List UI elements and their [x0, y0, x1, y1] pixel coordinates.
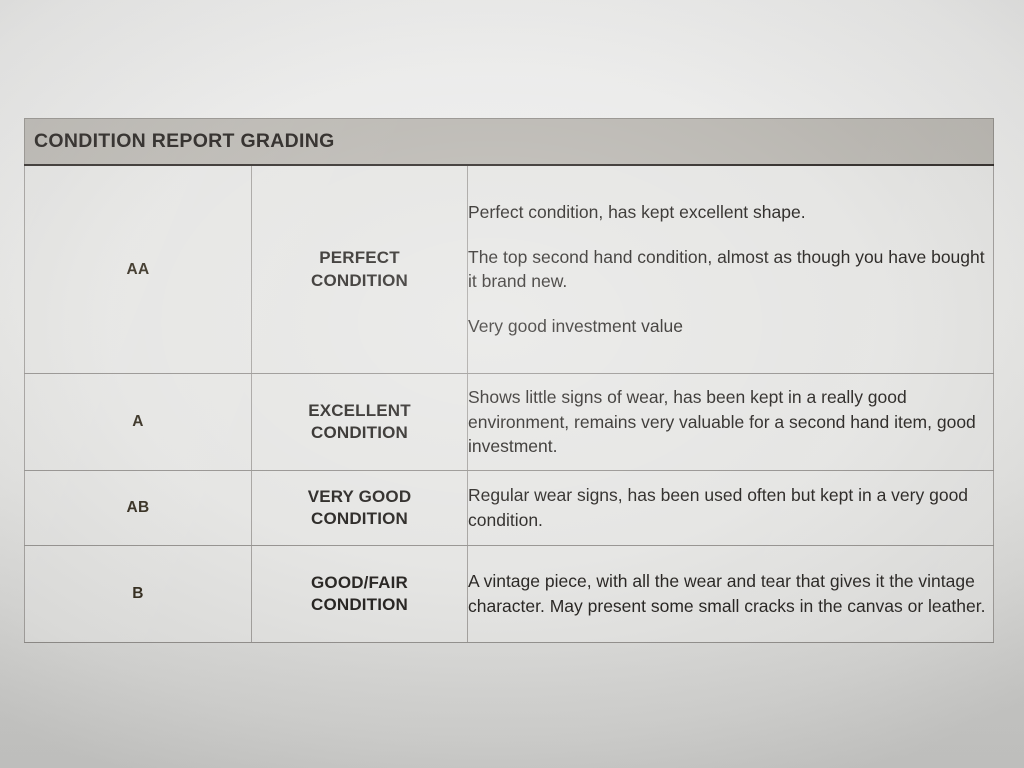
- condition-name-line-1: PERFECT: [319, 248, 400, 267]
- grade-cell-aa: AA: [25, 165, 252, 374]
- description-paragraph: Regular wear signs, has been used often …: [468, 483, 993, 533]
- description-paragraph: Perfect condition, has kept excellent sh…: [468, 201, 993, 224]
- table-header-cell: CONDITION REPORT GRADING: [25, 119, 994, 166]
- condition-report-grading-table: CONDITION REPORT GRADING AA PERFECT COND…: [24, 118, 994, 643]
- table-row: B GOOD/FAIR CONDITION A vintage piece, w…: [25, 546, 994, 643]
- description-cell-b: A vintage piece, with all the wear and t…: [468, 546, 994, 643]
- condition-name-cell-a: EXCELLENT CONDITION: [252, 374, 468, 471]
- description-paragraph: Very good investment value: [468, 315, 993, 338]
- description-cell-ab: Regular wear signs, has been used often …: [468, 471, 994, 546]
- description-paragraph: The top second hand condition, almost as…: [468, 246, 993, 293]
- table-row: AB VERY GOOD CONDITION Regular wear sign…: [25, 471, 994, 546]
- grade-label: B: [132, 585, 144, 602]
- table-row: A EXCELLENT CONDITION Shows little signs…: [25, 374, 994, 471]
- page-title: CONDITION REPORT GRADING: [25, 132, 993, 152]
- condition-name-line-1: GOOD/FAIR: [311, 573, 408, 592]
- grade-cell-b: B: [25, 546, 252, 643]
- table-row: AA PERFECT CONDITION Perfect condition, …: [25, 165, 994, 374]
- condition-name-label: GOOD/FAIR CONDITION: [252, 572, 467, 617]
- condition-name-line-2: CONDITION: [311, 595, 408, 614]
- condition-name-cell-ab: VERY GOOD CONDITION: [252, 471, 468, 546]
- grade-label: AB: [126, 499, 149, 516]
- condition-name-label: PERFECT CONDITION: [252, 247, 467, 292]
- table-header-row: CONDITION REPORT GRADING: [25, 119, 994, 166]
- condition-name-line-1: VERY GOOD: [308, 487, 412, 506]
- condition-name-line-2: CONDITION: [311, 509, 408, 528]
- condition-name-cell-aa: PERFECT CONDITION: [252, 165, 468, 374]
- grade-cell-a: A: [25, 374, 252, 471]
- condition-name-label: EXCELLENT CONDITION: [252, 400, 467, 445]
- condition-name-label: VERY GOOD CONDITION: [252, 486, 467, 531]
- grade-label: A: [132, 413, 144, 430]
- condition-name-line-2: CONDITION: [311, 423, 408, 442]
- table-body: AA PERFECT CONDITION Perfect condition, …: [25, 165, 994, 643]
- description-paragraph: Shows little signs of wear, has been kep…: [468, 385, 993, 460]
- condition-name-line-2: CONDITION: [311, 271, 408, 290]
- description-paragraph: A vintage piece, with all the wear and t…: [468, 569, 993, 619]
- grade-cell-ab: AB: [25, 471, 252, 546]
- description-cell-a: Shows little signs of wear, has been kep…: [468, 374, 994, 471]
- grade-label: AA: [126, 261, 149, 278]
- condition-name-line-1: EXCELLENT: [308, 401, 411, 420]
- description-cell-aa: Perfect condition, has kept excellent sh…: [468, 165, 994, 374]
- condition-name-cell-b: GOOD/FAIR CONDITION: [252, 546, 468, 643]
